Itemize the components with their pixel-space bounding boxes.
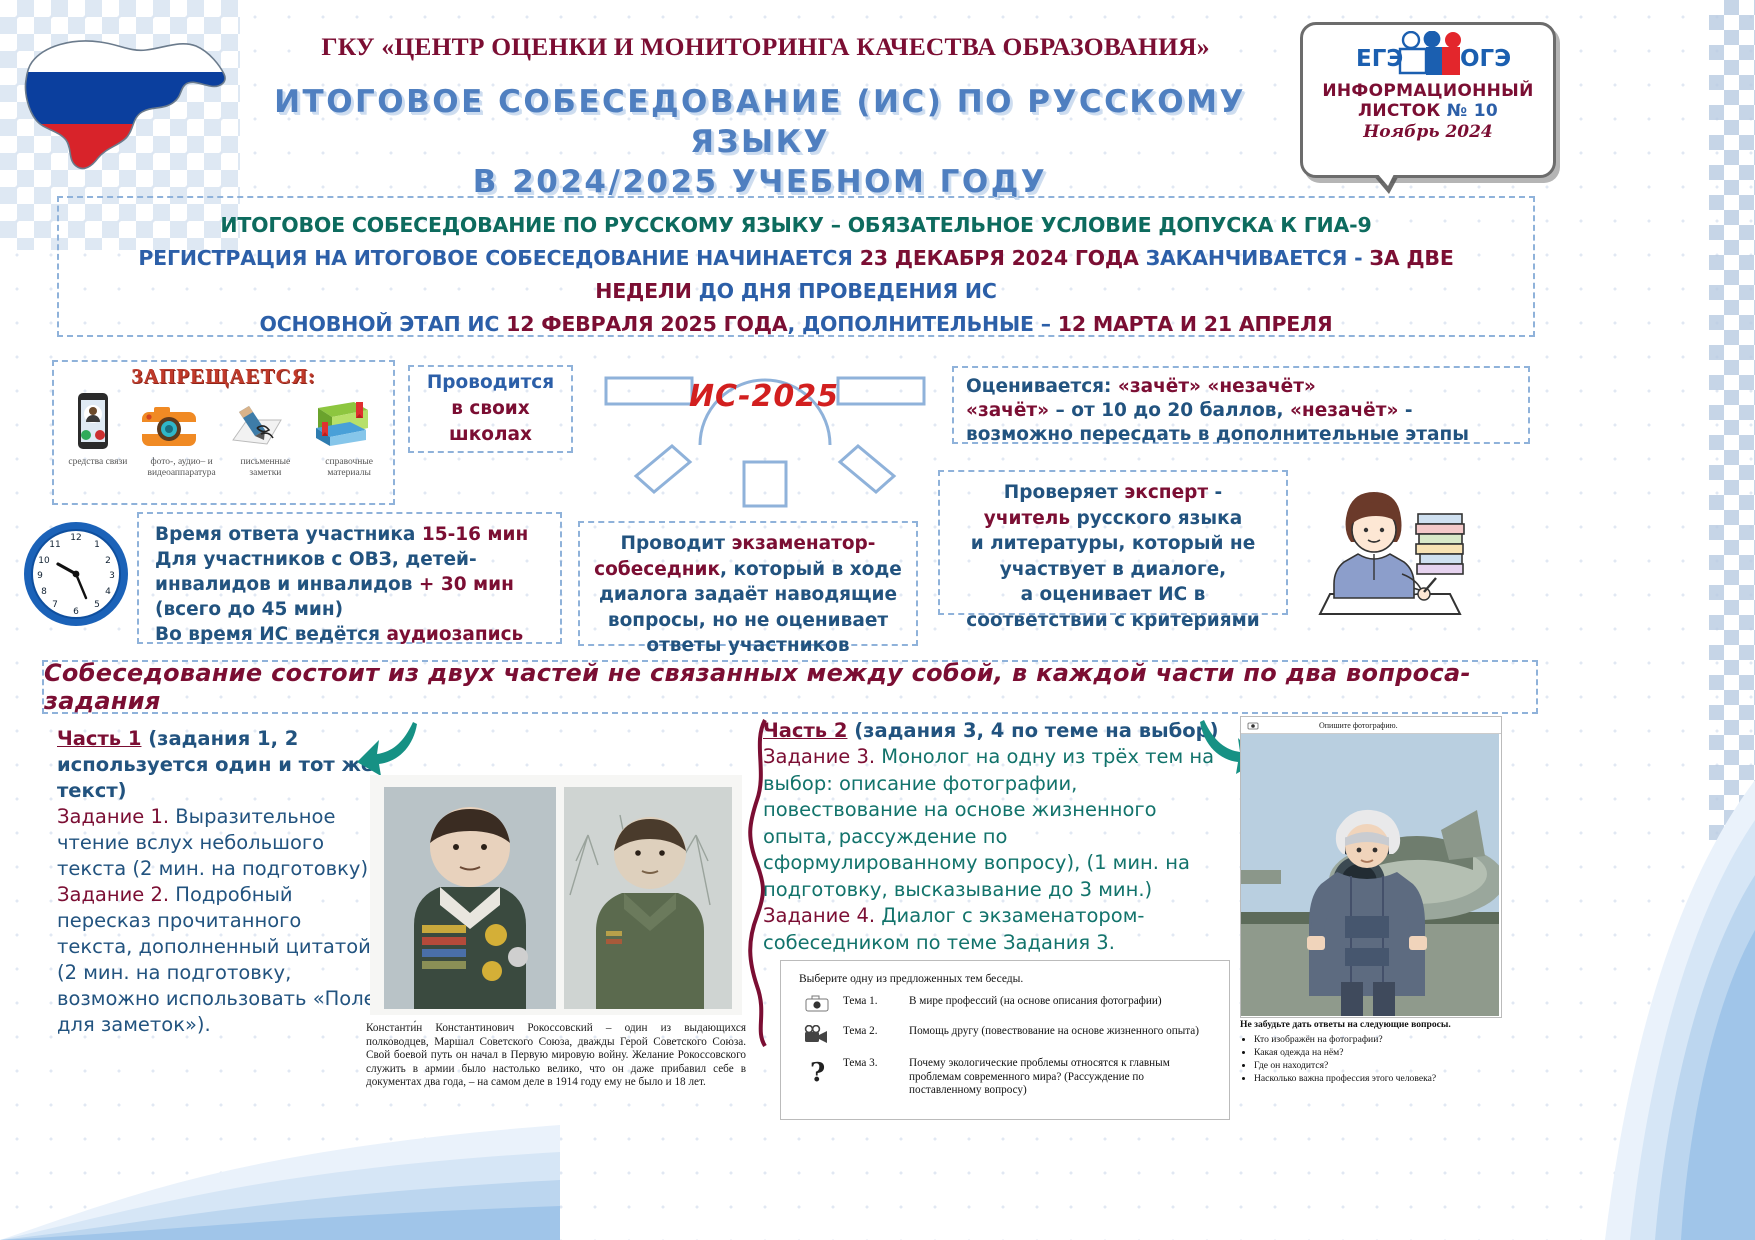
bubble-line-1: ИНФОРМАЦИОННЫЙ [1303, 81, 1553, 101]
photo-question-item: Где он находится? [1254, 1059, 1510, 1072]
part-2-heading: Часть 2 (задания 3, 4 по теме на выбор) [763, 718, 1223, 744]
svg-text:ЕГЭ: ЕГЭ [1356, 46, 1403, 72]
bubble-date: Ноябрь 2024 [1303, 122, 1553, 142]
expert-dash: - [1208, 482, 1222, 503]
announcement-line-4: ОСНОВНОЙ ЭТАП ИС 12 ФЕВРАЛЯ 2025 ГОДА, Д… [59, 308, 1533, 341]
time-label: Время ответа участника [155, 524, 422, 545]
svg-text:ОГЭ: ОГЭ [1460, 46, 1511, 72]
examiner-box: Проводит экзаменатор- собеседник, которы… [578, 521, 918, 646]
topic-text: Помощь другу (повествование на основе жи… [909, 1025, 1199, 1039]
forbidden-caption-0: средства связи [58, 457, 138, 479]
photo-card-header: Опишите фотографию. [1241, 717, 1501, 734]
topic-row: ? Тема 3. Почему экологические проблемы … [791, 1057, 1219, 1098]
examiner-conducts-label: Проводит [621, 533, 732, 554]
camera-icon [1247, 721, 1259, 730]
part-1-title: Часть 1 [57, 727, 141, 750]
expert-line-1: Проверяет эксперт - [950, 480, 1276, 506]
part-1-task-2-label: Задание 2. [57, 883, 169, 906]
announce-weeks-rest: ДО ДНЯ ПРОВЕДЕНИЯ ИС [692, 279, 997, 303]
camera-icon [140, 404, 198, 455]
announce-reg-start-label: РЕГИСТРАЦИЯ НА ИТОГОВОЕ СОБЕСЕДОВАНИЕ НА… [138, 246, 859, 270]
part-2-title-rest: (задания 3, 4 по теме на выбор) [847, 719, 1218, 742]
svg-text:6: 6 [73, 607, 79, 617]
evaluation-label: Оценивается: [966, 376, 1118, 397]
expert-line-2: учитель русского языка [950, 506, 1276, 532]
examiner-role-part1: экзаменатор- [731, 533, 875, 554]
part-2-task-4-label: Задание 4. [763, 904, 875, 927]
announce-main-stage-date: 12 ФЕВРАЛЯ 2025 ГОДА [506, 312, 787, 336]
part-1-task-2: Задание 2. Подробный пересказ прочитанно… [57, 882, 377, 1038]
photo-question-item: Кто изображён на фотографии? [1254, 1033, 1510, 1046]
expert-line-6: соответствии с критериями [950, 608, 1276, 634]
is-2025-label: ИС-2025 [684, 379, 844, 414]
part-2-section: Часть 2 (задания 3, 4 по теме на выбор) … [763, 718, 1223, 956]
topic-number: Тема 3. [843, 1057, 909, 1069]
own-schools-line-3: школах [449, 424, 532, 445]
own-schools-line-2: в своих [451, 398, 529, 419]
announce-reg-end-value: ЗА ДВЕ [1369, 246, 1453, 270]
structure-banner: Собеседование состоит из двух частей не … [42, 660, 1538, 714]
pencil-note-icon [227, 402, 285, 455]
topic-row: Тема 1. В мире профессий (на основе опис… [791, 995, 1219, 1017]
topic-number: Тема 1. [843, 995, 909, 1007]
photo-card-header-text: Опишите фотографию. [1319, 721, 1398, 730]
part-1-heading: Часть 1 (задания 1, 2 используется один … [57, 726, 377, 804]
evaluation-pass-range: – от 10 до 20 баллов, [1049, 400, 1290, 421]
photo-questions-list: Кто изображён на фотографии? Какая одежд… [1254, 1033, 1510, 1085]
expert-line-4: участвует в диалоге, [950, 557, 1276, 583]
part-1-title-rest: (задания 1, 2 [141, 727, 298, 750]
photo-question-item: Какая одежда на нём? [1254, 1046, 1510, 1059]
forbidden-title: ЗАПРЕЩАЕТСЯ: [54, 364, 393, 389]
topic-text: Почему экологические проблемы относятся … [909, 1057, 1219, 1098]
svg-text:1: 1 [94, 540, 100, 550]
forbidden-captions-row: средства связи фото-, аудио– и видеоаппа… [54, 457, 393, 479]
evaluation-fail-dash: - [1398, 400, 1412, 421]
expert-teacher-word: учитель [984, 508, 1077, 529]
announce-weeks-word: НЕДЕЛИ [595, 279, 691, 303]
examiner-line-2: собеседник, который в ходе [592, 557, 904, 583]
svg-text:10: 10 [38, 556, 50, 566]
announcement-line-3: НЕДЕЛИ ДО ДНЯ ПРОВЕДЕНИЯ ИС [59, 275, 1533, 308]
svg-text:12: 12 [70, 533, 81, 543]
time-value: 15-16 мин [422, 524, 528, 545]
announce-extra-stage-label: , ДОПОЛНИТЕЛЬНЫЕ – [787, 312, 1057, 336]
time-line-2: Для участников с ОВЗ, детей- [155, 547, 560, 572]
photo-questions-title: Не забудьте дать ответы на следующие воп… [1240, 1019, 1451, 1030]
photo-task-card: Опишите фотографию. [1240, 716, 1502, 1018]
svg-text:4: 4 [105, 587, 111, 597]
examiner-line-3: диалога задаёт наводящие [592, 582, 904, 608]
evaluation-pass-word: «зачёт» [966, 400, 1049, 421]
announce-reg-start-date: 23 ДЕКАБРЯ 2024 ГОДА [860, 246, 1139, 270]
announcement-line-1-text: ИТОГОВОЕ СОБЕСЕДОВАНИЕ ПО РУССКОМУ ЯЗЫКУ… [220, 213, 1371, 237]
rokossovsky-caption: Константи́н Константинович Рокоссовский … [366, 1022, 746, 1090]
svg-text:9: 9 [37, 571, 43, 581]
bubble-sheet-word: ЛИСТОК [1358, 101, 1441, 121]
part-1-heading-line2: используется один и тот [57, 753, 335, 776]
teacher-reading-icon [1300, 474, 1470, 634]
time-line-3: инвалидов и инвалидов + 30 мин [155, 572, 560, 597]
bubble-tail-inner [1371, 166, 1398, 186]
part-1-section: Часть 1 (задания 1, 2 используется один … [57, 726, 377, 1038]
part-2-task-4: Задание 4. Диалог с экзаменатором-собесе… [763, 903, 1223, 956]
evaluation-line-1: Оценивается: «зачёт» «незачёт» [966, 375, 1518, 399]
structure-banner-text: Собеседование состоит из двух частей не … [44, 659, 1536, 715]
evaluation-line-2: «зачёт» – от 10 до 20 баллов, «незачёт» … [966, 399, 1518, 423]
topics-header: Выберите одну из предложенных тем беседы… [799, 973, 1219, 985]
announce-main-stage-label: ОСНОВНОЙ ЭТАП ИС [259, 312, 506, 336]
evaluation-box: Оценивается: «зачёт» «незачёт» «зачёт» –… [952, 366, 1530, 444]
expert-checks-label: Проверяет [1004, 482, 1125, 503]
question-mark-icon: ? [791, 1057, 843, 1089]
forbidden-caption-3: справочные материалы [309, 457, 389, 479]
expert-line-5: а оценивает ИС в [950, 582, 1276, 608]
svg-text:5: 5 [94, 600, 100, 610]
rokossovsky-portrait [370, 775, 742, 1015]
svg-text:8: 8 [41, 587, 47, 597]
time-ovz-value: + 30 мин [419, 574, 514, 595]
time-line-5: Во время ИС ведётся аудиозапись [155, 622, 560, 647]
evaluation-marks: «зачёт» «незачёт» [1118, 376, 1316, 397]
own-schools-line-1: Проводится [427, 372, 554, 393]
evaluation-fail-word: «незачёт» [1290, 400, 1398, 421]
arrow-down-left-icon [355, 718, 421, 780]
examiner-line-4: вопросы, но не оценивает [592, 608, 904, 634]
time-line-1: Время ответа участника 15-16 мин [155, 522, 560, 547]
announce-extra-stage-dates: 12 МАРТА И 21 АПРЕЛЯ [1058, 312, 1333, 336]
part-2-title: Часть 2 [763, 719, 847, 742]
organization-title: ГКУ «ЦЕНТР ОЦЕНКИ И МОНИТОРИНГА КАЧЕСТВА… [278, 32, 1253, 62]
announcement-line-2: РЕГИСТРАЦИЯ НА ИТОГОВОЕ СОБЕСЕДОВАНИЕ НА… [59, 242, 1533, 275]
own-schools-text: Проводится в своих школах [427, 370, 554, 448]
forbidden-caption-2: письменные заметки [225, 457, 305, 479]
response-time-box: Время ответа участника 15-16 мин Для уча… [137, 512, 562, 644]
audio-label: Во время ИС ведётся [155, 624, 386, 645]
svg-text:11: 11 [49, 540, 60, 550]
photo-task-questions: Не забудьте дать ответы на следующие воп… [1240, 1018, 1510, 1085]
camera-icon [791, 995, 843, 1017]
topic-row: Тема 2. Помощь другу (повествование на о… [791, 1025, 1219, 1049]
info-sheet-bubble: ЕГЭ ОГЭ ИНФОРМАЦИОННЫЙ ЛИСТОК № 10 Ноябр… [1300, 22, 1556, 178]
own-schools-box: Проводится в своих школах [408, 365, 573, 453]
part-1-task-1-label: Задание 1. [57, 805, 169, 828]
page-title-line-1: ИТОГОВОЕ СОБЕСЕДОВАНИЕ (ИС) ПО РУССКОМУ … [240, 82, 1280, 162]
forbidden-items-box: ЗАПРЕЩАЕТСЯ: [52, 360, 395, 505]
crimea-flag-icon [14, 22, 254, 182]
pilot-photo [1241, 734, 1499, 1016]
expert-line-3: и литературы, который не [950, 531, 1276, 557]
topics-table: Выберите одну из предложенных тем беседы… [780, 960, 1230, 1120]
announce-reg-end-label: ЗАКАНЧИВАЕТСЯ - [1139, 246, 1370, 270]
ege-oge-logo-icon: ЕГЭ ОГЭ [1303, 31, 1553, 79]
clock-icon: 1212 345 678 91011 [20, 518, 132, 630]
bubble-line-2: ЛИСТОК № 10 [1303, 101, 1553, 121]
audio-value: аудиозапись [386, 624, 523, 645]
forbidden-caption-1: фото-, аудио– и видеоаппаратура [142, 457, 222, 479]
photo-question-item: Насколько важна профессия этого человека… [1254, 1072, 1510, 1085]
expert-subject: русского языка [1076, 508, 1242, 529]
page-title: ИТОГОВОЕ СОБЕСЕДОВАНИЕ (ИС) ПО РУССКОМУ … [240, 82, 1280, 202]
film-camera-icon [791, 1025, 843, 1049]
part-2-task-3-label: Задание 3. [763, 745, 875, 768]
svg-text:2: 2 [105, 556, 111, 566]
examiner-role-part2: собеседник [594, 559, 720, 580]
svg-text:?: ? [810, 1058, 825, 1085]
bubble-sheet-number: № 10 [1447, 101, 1498, 121]
part-1-task-1: Задание 1. Выразительное чтение вслух не… [57, 804, 377, 882]
topic-number: Тема 2. [843, 1025, 909, 1037]
svg-text:3: 3 [109, 571, 115, 581]
part-2-task-3: Задание 3. Монолог на одну из трёх тем н… [763, 744, 1223, 903]
announcement-line-1: ИТОГОВОЕ СОБЕСЕДОВАНИЕ ПО РУССКОМУ ЯЗЫКУ… [59, 209, 1533, 242]
forbidden-icons-row [54, 393, 393, 455]
svg-text:7: 7 [52, 600, 58, 610]
expert-box: Проверяет эксперт - учитель русского язы… [938, 470, 1288, 615]
evaluation-line-3: возможно пересдать в дополнительные этап… [966, 423, 1518, 447]
mobile-phone-icon [75, 392, 111, 455]
expert-word: эксперт [1124, 482, 1208, 503]
part-2-task-3-text: Монолог на одну из трёх тем на выбор: оп… [763, 745, 1214, 901]
background-diamond-strip [1709, 0, 1755, 1240]
books-icon [314, 400, 372, 455]
announcement-box: ИТОГОВОЕ СОБЕСЕДОВАНИЕ ПО РУССКОМУ ЯЗЫКУ… [57, 196, 1535, 337]
topic-text: В мире профессий (на основе описания фот… [909, 995, 1162, 1009]
examiner-line-5: ответы участников [592, 633, 904, 659]
time-line-4: (всего до 45 мин) [155, 597, 560, 622]
examiner-line-1: Проводит экзаменатор- [592, 531, 904, 557]
time-ovz-label: инвалидов и инвалидов [155, 574, 419, 595]
examiner-role-rest: , который в ходе [720, 559, 902, 580]
